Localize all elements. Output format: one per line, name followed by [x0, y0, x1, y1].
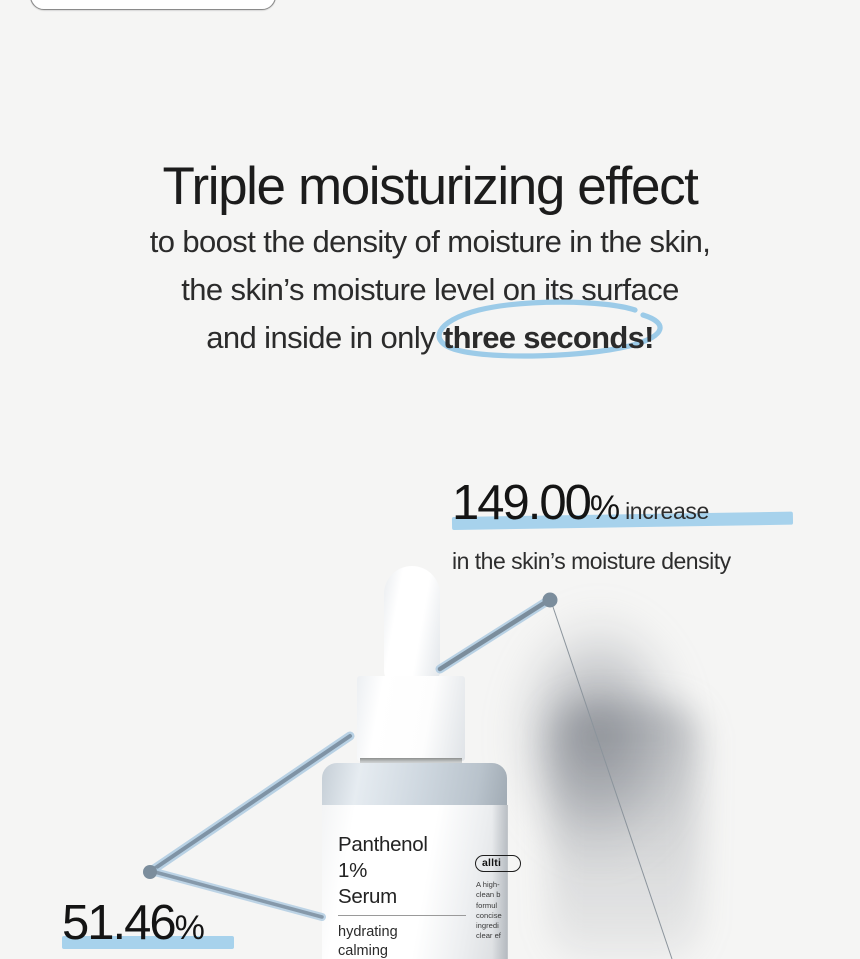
stat-value: 149.00 — [452, 476, 590, 530]
product-name-line-3: Serum — [338, 884, 488, 910]
stat-value-row: 149.00% increase — [452, 476, 731, 535]
product-benefits: hydrating calming — [338, 923, 488, 959]
fineprint-line: clean b — [476, 890, 516, 900]
benefit-calming: calming — [338, 942, 488, 959]
headline-line-1: to boost the density of moisture in the … — [0, 218, 860, 266]
stat-value: 51.46 — [62, 896, 175, 950]
page-title: Triple moisturizing effect — [0, 156, 860, 218]
fineprint-line: formul — [476, 901, 516, 911]
headline-block: Triple moisturizing effect to boost the … — [0, 156, 860, 362]
brand-badge: allti — [475, 855, 521, 872]
stat-moisture-density: 149.00% increase in the skin’s moisture … — [452, 476, 731, 576]
stat-moisture-level: 51.46% increase — [62, 896, 204, 959]
stat-change-label: increase — [619, 498, 709, 524]
benefit-hydrating: hydrating — [338, 923, 488, 942]
fineprint-line: concise — [476, 911, 516, 921]
label-divider — [338, 915, 466, 916]
headline-line-3-prefix: and inside in only — [206, 320, 443, 355]
stat-unit: % — [175, 909, 204, 947]
product-photo: Panthenol 1% Serum hydrating calming all… — [120, 555, 720, 959]
bottle-cap — [357, 676, 465, 761]
headline-emphasis: three seconds! — [443, 320, 654, 355]
emphasis-wrap: three seconds! — [443, 314, 654, 362]
product-name-line-2: 1% — [338, 858, 488, 884]
fineprint-line: ingredi — [476, 921, 516, 931]
stat-description: in the skin’s moisture density — [452, 546, 731, 576]
headline-line-3: and inside in only three seconds! — [0, 314, 860, 362]
top-card-cutoff[interactable] — [30, 0, 276, 10]
fineprint-line: clear ef — [476, 931, 516, 941]
promo-page: Triple moisturizing effect to boost the … — [0, 0, 860, 959]
product-name-line-1: Panthenol — [338, 832, 488, 858]
headline-line-2: the skin’s moisture level on its surface — [0, 266, 860, 314]
stat-value-row: 51.46% — [62, 896, 204, 955]
product-label: Panthenol 1% Serum — [338, 832, 488, 910]
dropper-bulb — [384, 566, 440, 684]
product-shadow-core — [550, 705, 700, 959]
fineprint-line: A high- — [476, 880, 516, 890]
label-fineprint: A high- clean b formul concise ingredi c… — [476, 880, 516, 942]
stat-unit: % — [590, 489, 619, 527]
